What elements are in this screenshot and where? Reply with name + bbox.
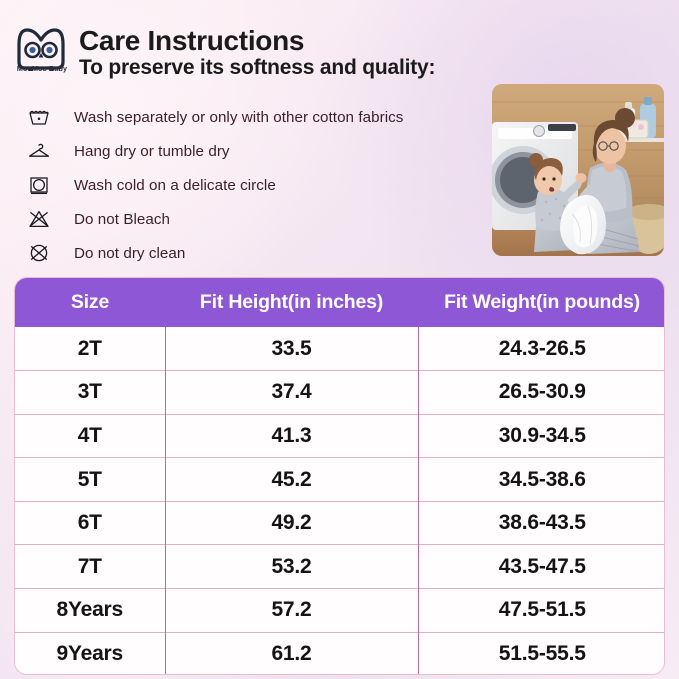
care-text: Do not dry clean	[74, 245, 185, 262]
cell-height: 45.2	[165, 458, 418, 502]
cell-height: 37.4	[165, 371, 418, 415]
care-text: Hang dry or tumble dry	[74, 143, 230, 160]
table-row: 2T 33.5 24.3-26.5	[15, 327, 665, 371]
cell-size: 3T	[15, 371, 165, 415]
cell-height: 57.2	[165, 589, 418, 633]
cell-height: 41.3	[165, 414, 418, 458]
laundry-photo	[492, 84, 664, 256]
care-row: Do not Bleach	[0, 202, 480, 236]
cell-height: 53.2	[165, 545, 418, 589]
cell-weight: 30.9-34.5	[418, 414, 665, 458]
cell-size: 5T	[15, 458, 165, 502]
column-header-weight: Fit Weight(in pounds)	[418, 278, 665, 327]
care-row: Wash cold on a delicate circle	[0, 168, 480, 202]
cell-height: 61.2	[165, 632, 418, 675]
cell-size: 9Years	[15, 632, 165, 675]
cell-size: 4T	[15, 414, 165, 458]
cell-size: 7T	[15, 545, 165, 589]
table-header-row: Size Fit Height(in inches) Fit Weight(in…	[15, 278, 665, 327]
column-header-height: Fit Height(in inches)	[165, 278, 418, 327]
table-row: 5T 45.2 34.5-38.6	[15, 458, 665, 502]
column-header-size: Size	[15, 278, 165, 327]
cell-weight: 34.5-38.6	[418, 458, 665, 502]
table-row: 8Years 57.2 47.5-51.5	[15, 589, 665, 633]
table-row: 3T 37.4 26.5-30.9	[15, 371, 665, 415]
cell-weight: 38.6-43.5	[418, 501, 665, 545]
page-title: Care Instructions	[79, 25, 304, 57]
brand-caption: MooMoo Baby	[13, 64, 71, 73]
page-subtitle: To preserve its softness and quality:	[79, 56, 435, 80]
care-text: Wash cold on a delicate circle	[74, 177, 276, 194]
cell-height: 49.2	[165, 501, 418, 545]
table-row: 7T 53.2 43.5-47.5	[15, 545, 665, 589]
table-row: 9Years 61.2 51.5-55.5	[15, 632, 665, 675]
cell-size: 8Years	[15, 589, 165, 633]
cell-weight: 47.5-51.5	[418, 589, 665, 633]
cell-size: 6T	[15, 501, 165, 545]
cell-weight: 43.5-47.5	[418, 545, 665, 589]
tumble-dry-icon	[26, 174, 52, 196]
cell-weight: 26.5-30.9	[418, 371, 665, 415]
cell-weight: 51.5-55.5	[418, 632, 665, 675]
care-text: Wash separately or only with other cotto…	[74, 109, 403, 126]
care-row: Hang dry or tumble dry	[0, 134, 480, 168]
hanger-icon	[26, 140, 52, 162]
wash-tub-icon	[26, 106, 52, 128]
care-instructions-list: Wash separately or only with other cotto…	[0, 100, 480, 270]
no-dry-clean-icon	[26, 242, 52, 264]
cell-weight: 24.3-26.5	[418, 327, 665, 371]
care-text: Do not Bleach	[74, 211, 170, 228]
size-chart-table: Size Fit Height(in inches) Fit Weight(in…	[14, 277, 665, 675]
table-row: 6T 49.2 38.6-43.5	[15, 501, 665, 545]
cell-height: 33.5	[165, 327, 418, 371]
no-bleach-icon	[26, 208, 52, 230]
page-header: MooMoo Baby Care Instructions To preserv…	[0, 0, 679, 84]
table-row: 4T 41.3 30.9-34.5	[15, 414, 665, 458]
care-row: Do not dry clean	[0, 236, 480, 270]
care-row: Wash separately or only with other cotto…	[0, 100, 480, 134]
cell-size: 2T	[15, 327, 165, 371]
